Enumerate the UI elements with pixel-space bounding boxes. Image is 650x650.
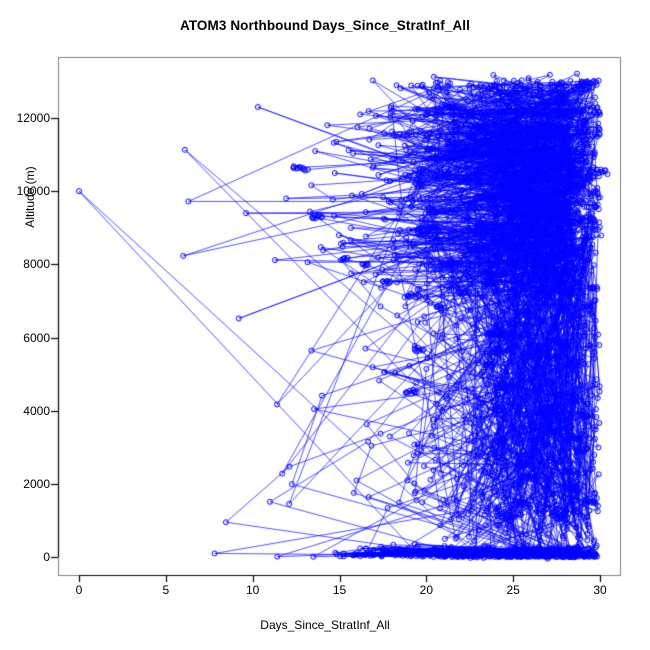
scatter-plot-figure: ATOM3 Northbound Days_Since_StratInf_All… bbox=[0, 0, 650, 650]
x-tick-label: 25 bbox=[506, 583, 519, 597]
x-tick-label: 5 bbox=[162, 583, 169, 597]
y-tick-label: 4000 bbox=[23, 404, 50, 418]
x-tick-label: 15 bbox=[333, 583, 346, 597]
y-tick-label: 12000 bbox=[17, 111, 50, 125]
x-tick-label: 20 bbox=[420, 583, 433, 597]
x-tick-label: 0 bbox=[76, 583, 83, 597]
y-tick-label: 6000 bbox=[23, 331, 50, 345]
y-tick-label: 2000 bbox=[23, 477, 50, 491]
x-tick-label: 10 bbox=[246, 583, 259, 597]
y-tick-label: 8000 bbox=[23, 257, 50, 271]
plot-canvas bbox=[0, 0, 650, 650]
y-tick-label: 10000 bbox=[17, 184, 50, 198]
x-axis-label: Days_Since_StratInf_All bbox=[0, 618, 650, 632]
y-tick-label: 0 bbox=[43, 550, 50, 564]
x-tick-label: 30 bbox=[593, 583, 606, 597]
